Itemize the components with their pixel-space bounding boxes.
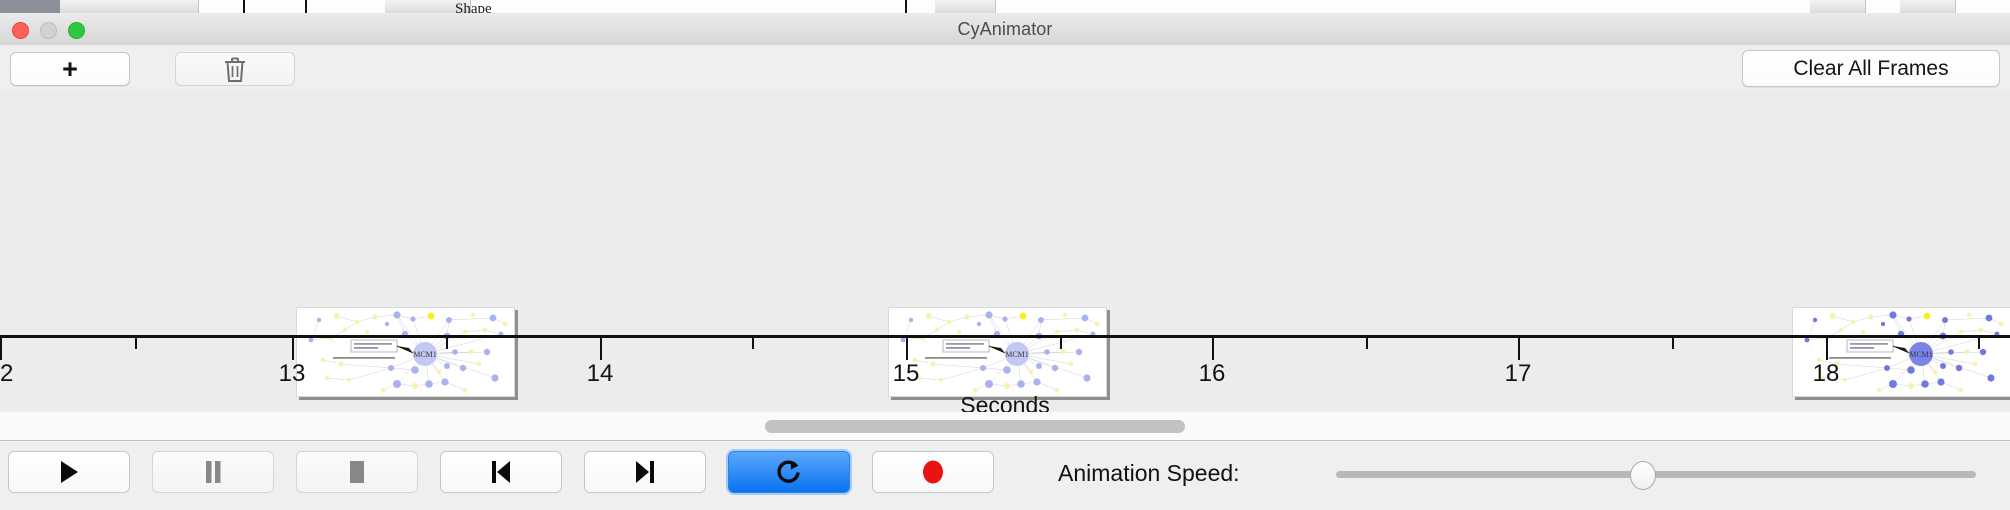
background-window-segment [150,0,199,13]
ruler-tick-label: 12 [0,360,13,388]
ruler-tick-major [906,338,908,360]
ruler-tick-minor [1978,338,1980,349]
loop-button[interactable] [728,451,850,493]
animation-speed-slider-thumb[interactable] [1630,461,1656,490]
delete-frame-button[interactable] [175,52,295,86]
first-frame-button[interactable] [440,451,562,493]
ruler-tick-major [1518,338,1520,360]
ruler-tick-major [1212,338,1214,360]
skip-to-start-icon [489,459,513,485]
window-title: CyAnimator [0,19,2010,40]
timeline-ruler: 12131415161718 Seconds [0,335,2010,412]
loop-icon [776,458,802,486]
cyanimator-window: Shape CyAnimator + Clear All Frames [0,0,2010,510]
clear-all-frames-label: Clear All Frames [1793,57,1948,81]
animation-speed-label: Animation Speed: [1058,460,1240,487]
timeline-scrollbar[interactable] [0,412,2010,441]
title-bar: CyAnimator [0,13,2010,46]
scrollbar-thumb[interactable] [765,420,1185,433]
ruler-tick-label: 14 [587,360,614,388]
ruler-tick-minor [135,338,137,349]
ruler-tick-minor [446,338,448,349]
record-icon [920,459,946,485]
ruler-tick-minor [1366,338,1368,349]
background-window-segment [935,0,996,13]
play-icon [58,459,80,485]
stop-icon [346,459,368,485]
axis-label-seconds: Seconds [0,392,2010,413]
ruler-tick-major [292,338,294,360]
ruler-tick-major [0,338,2,360]
ruler-tick-minor [752,338,754,349]
ruler-tick-major [1826,338,1828,360]
pause-icon [203,459,223,485]
ruler-tick-label: 15 [893,360,920,388]
background-window-tick [243,0,245,13]
playback-control-bar: Animation Speed: [0,441,2010,510]
plus-icon: + [62,56,78,83]
stop-button[interactable] [296,451,418,493]
frames-toolbar: + Clear All Frames [0,45,2010,91]
ruler-tick-minor [1672,338,1674,349]
background-window: Shape [0,0,2010,14]
record-button[interactable] [872,451,994,493]
trash-icon [223,56,247,83]
background-window-tick [305,0,307,13]
background-window-chrome [0,0,60,13]
ruler-tick-label: 13 [279,360,306,388]
skip-to-end-icon [633,459,657,485]
play-button[interactable] [8,451,130,493]
background-window-segment [1900,0,1956,13]
background-window-tick [905,0,907,13]
ruler-tick-label: 16 [1199,360,1226,388]
last-frame-button[interactable] [584,451,706,493]
ruler-tick-minor [1060,338,1062,349]
ruler-tick-label: 17 [1505,360,1532,388]
clear-all-frames-button[interactable]: Clear All Frames [1742,50,2000,87]
background-window-segment [60,0,151,13]
add-frame-button[interactable]: + [10,52,130,86]
ruler-tick-major [600,338,602,360]
timeline-panel[interactable]: MCM1MCM1MCM1 12131415161718 Seconds [0,90,2010,413]
background-window-segment [1810,0,1866,13]
ruler-tick-label: 18 [1813,360,1840,388]
pause-button[interactable] [152,451,274,493]
animation-speed-slider[interactable] [1336,471,1976,478]
ruler-baseline [0,335,2010,338]
